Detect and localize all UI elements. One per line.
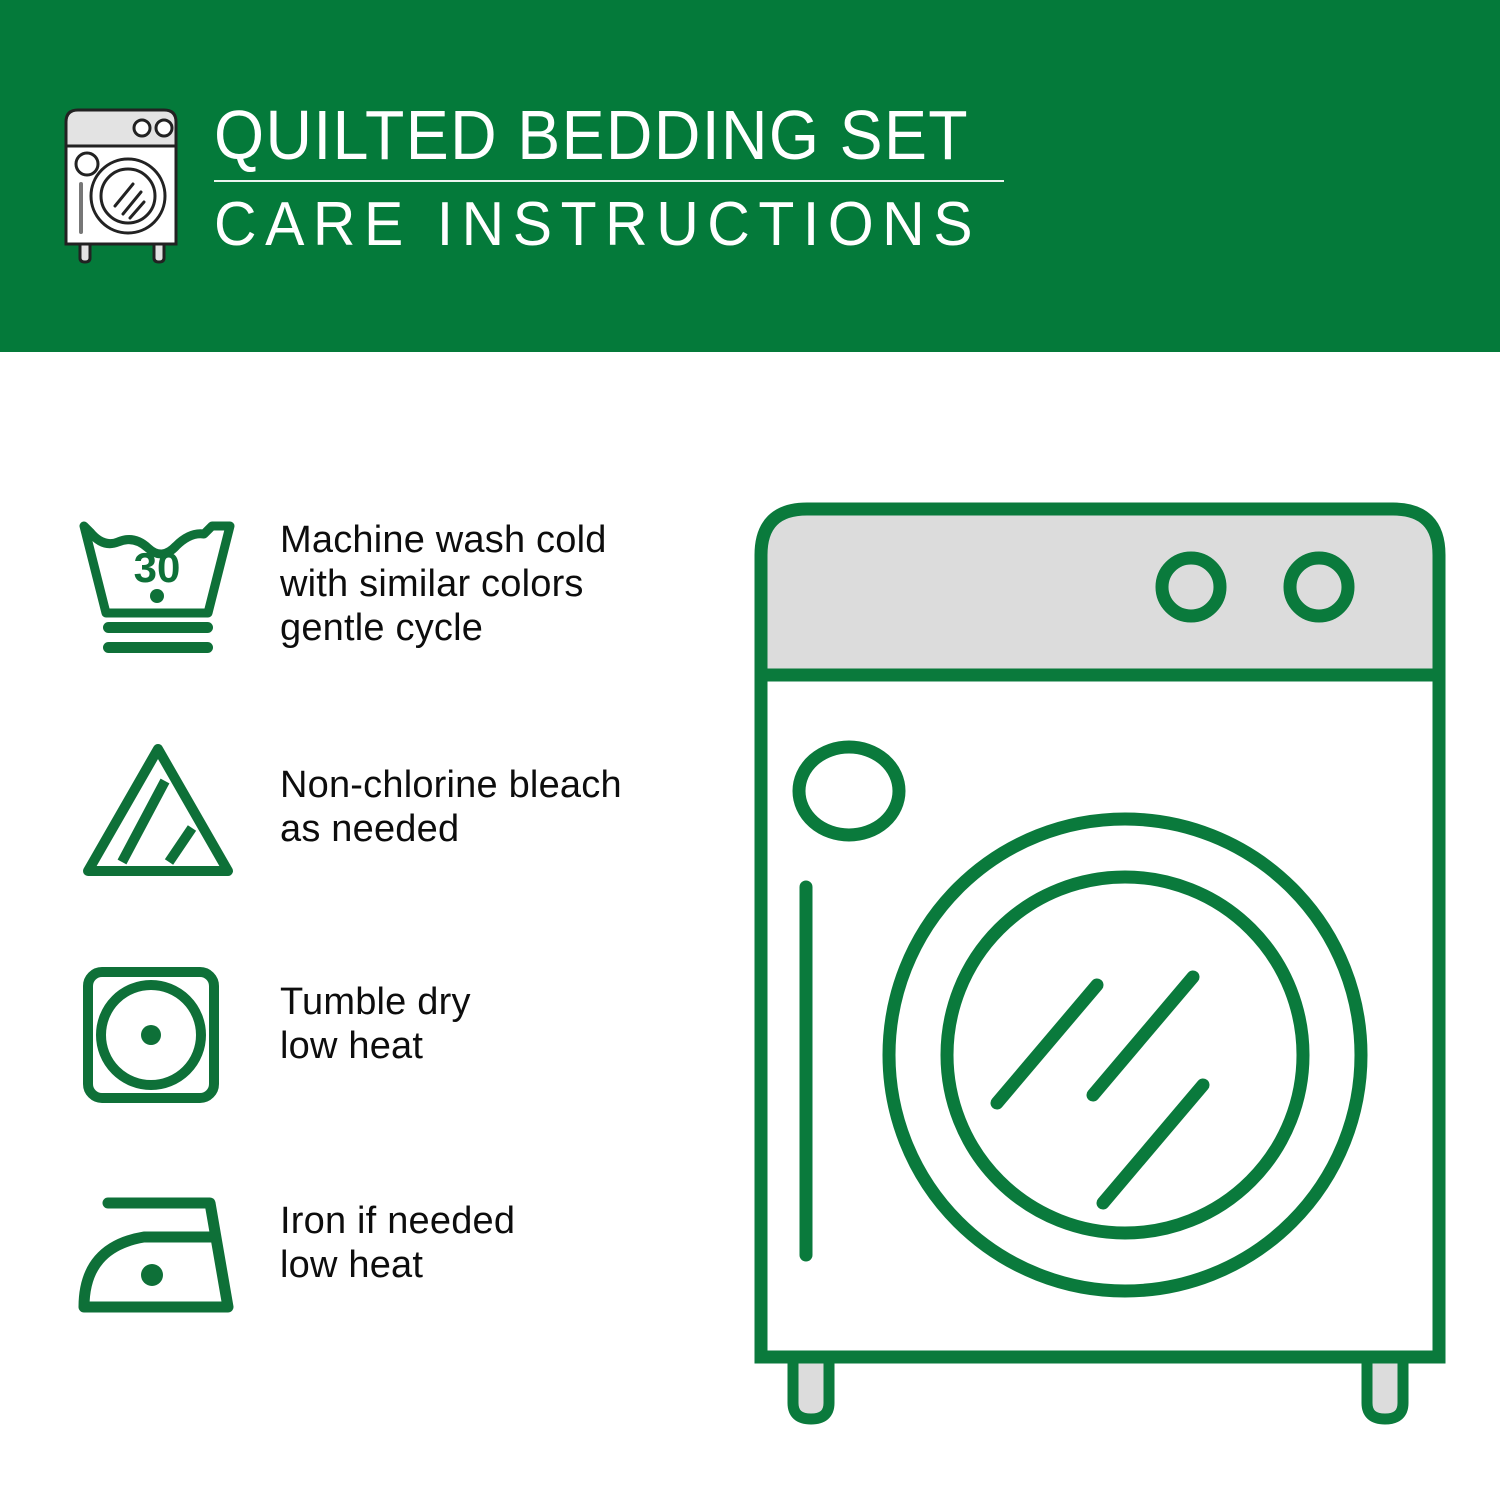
care-instruction-row: Iron if needed low heat [70,1185,710,1410]
knob [1162,558,1220,616]
care-label-line: Non-chlorine bleach [280,763,710,807]
care-label-line: as needed [280,807,710,851]
care-label-line: gentle cycle [280,606,710,650]
title-divider [214,180,1004,182]
care-instruction-list: 30 Machine wash cold with similar colors… [70,510,710,1410]
care-label-line: low heat [280,1243,710,1287]
knob [1290,558,1348,616]
care-label-line: Machine wash cold [280,518,710,562]
front-load-washing-machine-illustration [745,495,1455,1425]
leg [793,1355,829,1419]
wash-tub-30-gentle-icon: 30 [70,510,280,670]
care-instruction-label: Non-chlorine bleach as needed [280,735,710,851]
leg [1367,1355,1403,1419]
header-band: QUILTED BEDDING SET CARE INSTRUCTIONS [0,0,1500,352]
care-instruction-label: Iron if needed low heat [280,1185,710,1287]
care-instruction-label: Tumble dry low heat [280,960,710,1068]
washing-machine-icon [60,102,188,264]
page-title: QUILTED BEDDING SET [214,98,992,172]
bleach-triangle-nonchlorine-icon [70,735,280,895]
care-instructions-page: QUILTED BEDDING SET CARE INSTRUCTIONS 30 [0,0,1500,1500]
header-content: QUILTED BEDDING SET CARE INSTRUCTIONS [60,96,1060,276]
care-instruction-row: 30 Machine wash cold with similar colors… [70,510,710,735]
care-label-line: low heat [280,1024,710,1068]
wash-temperature-value: 30 [134,544,181,591]
header-titles: QUILTED BEDDING SET CARE INSTRUCTIONS [214,96,1060,258]
tumble-dry-low-icon [70,960,280,1120]
page-subtitle: CARE INSTRUCTIONS [214,192,1018,258]
care-label-line: with similar colors [280,562,710,606]
care-label-line: Tumble dry [280,980,710,1024]
iron-low-heat-icon [70,1185,280,1345]
care-instruction-row: Tumble dry low heat [70,960,710,1185]
care-label-line: Iron if needed [280,1199,710,1243]
care-instruction-row: Non-chlorine bleach as needed [70,735,710,960]
detergent-dispenser [799,747,899,835]
care-instruction-label: Machine wash cold with similar colors ge… [280,510,710,650]
